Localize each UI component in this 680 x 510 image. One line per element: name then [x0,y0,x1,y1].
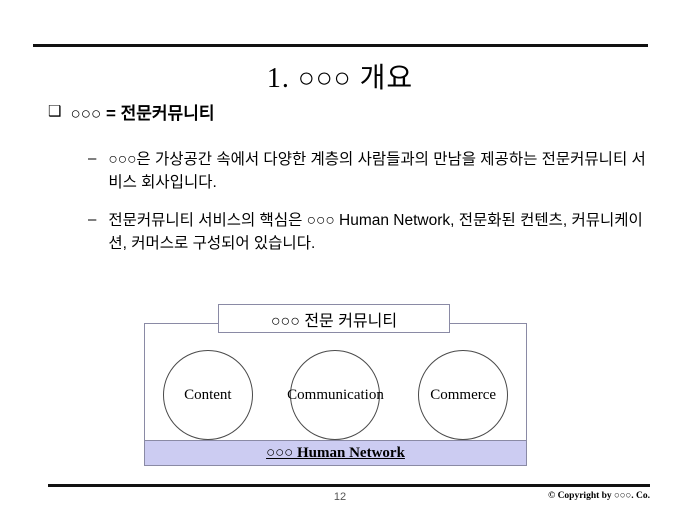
circle-label: Communication [287,387,384,404]
diagram-circle-communication: Communication [290,350,380,440]
bullet-level2-label: ○○○은 가상공간 속에서 다양한 계층의 사람들과의 만남을 제공하는 전문커… [108,148,648,195]
square-bullet-icon: ❑ [48,104,61,119]
page-title: 1. ○○○ 개요 [0,56,680,96]
bullet-level2-label: 전문커뮤니티 서비스의 핵심은 ○○○ Human Network, 전문화된 … [108,209,648,256]
circle-label: Commerce [430,387,496,404]
diagram-title-box: ○○○ 전문 커뮤니티 [218,304,450,333]
diagram-circles-row: Content Communication Commerce [144,349,527,441]
footer-divider [48,484,650,487]
dash-bullet-icon: – [88,209,96,256]
copyright-notice: © Copyright by ○○○. Co. [548,491,650,501]
header-divider [33,44,648,47]
foundation-band-label: ○○○ Human Network [266,445,405,462]
bullet-level1-label: ○○○ = 전문커뮤니티 [70,99,214,124]
diagram-foundation-band: ○○○ Human Network [145,440,526,465]
dash-bullet-icon: – [88,148,96,195]
circle-label: Content [184,387,232,404]
diagram-circle-content: Content [163,350,253,440]
bullet-level2-item: – ○○○은 가상공간 속에서 다양한 계층의 사람들과의 만남을 제공하는 전… [88,148,648,195]
diagram-circle-commerce: Commerce [418,350,508,440]
bullet-level2-item: – 전문커뮤니티 서비스의 핵심은 ○○○ Human Network, 전문화… [88,209,648,256]
bullet-level1: ❑ ○○○ = 전문커뮤니티 [48,99,214,124]
